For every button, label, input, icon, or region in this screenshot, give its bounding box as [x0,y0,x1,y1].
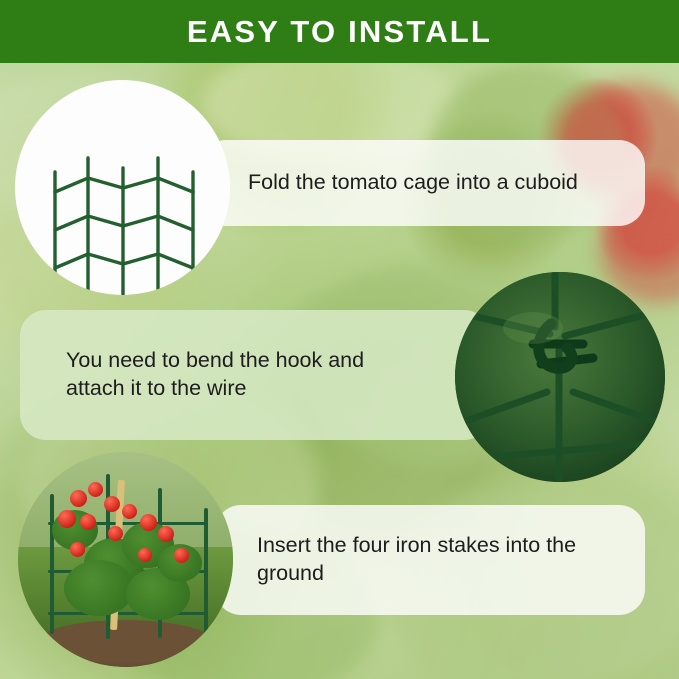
step-2-label: You need to bend the hook and attach it … [20,347,490,403]
page-title: EASY TO INSTALL [187,14,492,50]
step-1-label: Fold the tomato cage into a cuboid [200,169,594,197]
tomato-plant-photo [18,452,233,667]
product-infographic: EASY TO INSTALL Fold the tomato cage int… [0,0,679,679]
header-banner: EASY TO INSTALL [0,0,679,63]
step-1-image [15,80,230,295]
step-2-text-box: You need to bend the hook and attach it … [20,310,490,440]
step-3-image [18,452,233,667]
cage-hook-closeup-icon [455,272,665,482]
step-1-text-box: Fold the tomato cage into a cuboid [200,140,645,226]
step-3-text-box: Insert the four iron stakes into the gro… [215,505,645,615]
step-2-image [455,272,665,482]
step-3-label: Insert the four iron stakes into the gro… [215,532,645,588]
tomato-cage-wireframe-icon [15,80,230,295]
